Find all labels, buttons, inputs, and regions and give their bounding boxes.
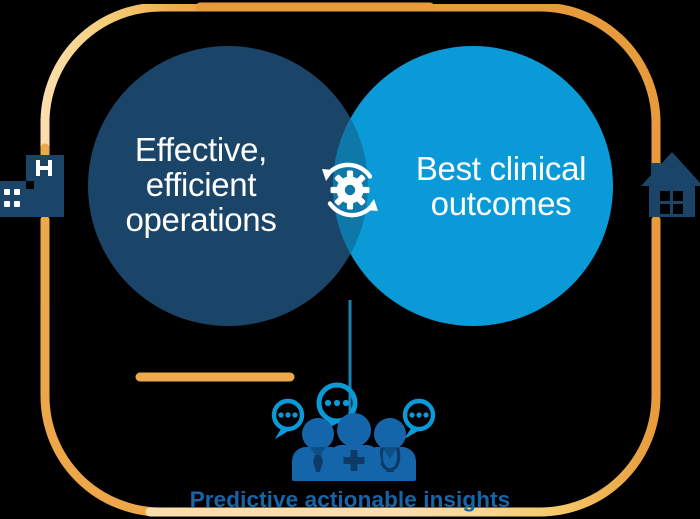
diagram-canvas: Effective, efficient operations Best cli… <box>0 0 700 519</box>
diagram-artwork <box>0 0 700 519</box>
circle-effective-operations <box>88 46 368 326</box>
gear-shape <box>331 171 370 210</box>
people-base <box>292 472 416 481</box>
circle-best-outcomes <box>333 46 613 326</box>
caption-predictive-insights: Predictive actionable insights <box>0 487 700 513</box>
people-group <box>292 413 416 481</box>
